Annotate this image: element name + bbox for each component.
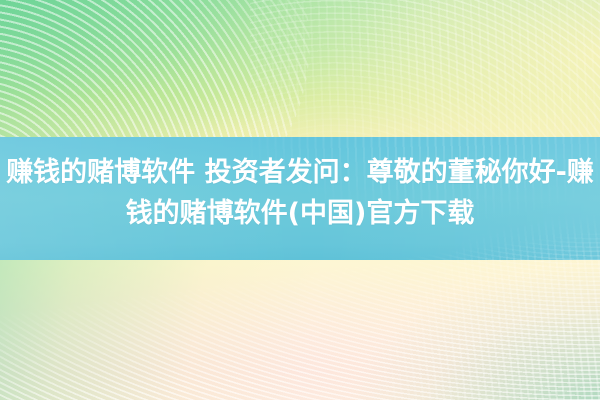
decorative-banner: 赚钱的赌博软件 投资者发问：尊敬的董秘你好-赚钱的赌博软件(中国)官方下载 xyxy=(0,0,600,400)
banner-headline: 赚钱的赌博软件 投资者发问：尊敬的董秘你好-赚钱的赌博软件(中国)官方下载 xyxy=(0,152,600,234)
